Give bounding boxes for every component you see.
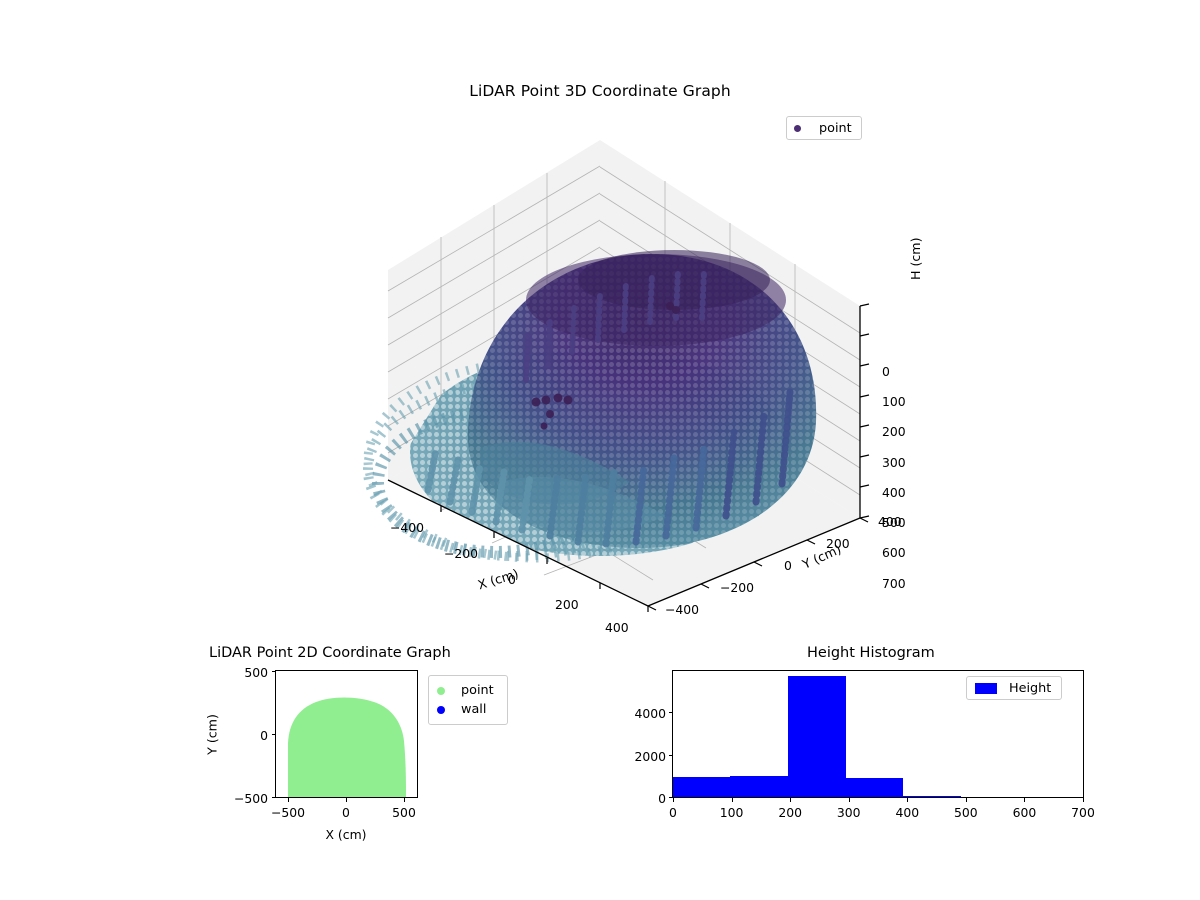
histogram-bar <box>788 676 845 797</box>
y-tick-0: −400 <box>665 602 699 617</box>
xh-tick-label: 500 <box>936 805 996 820</box>
legend-2d-label-wall: wall <box>461 702 486 717</box>
lidar-3d-plot <box>300 130 940 630</box>
xh-tick-mark <box>907 798 908 802</box>
legend-2d-row-wall[interactable]: wall <box>437 700 494 719</box>
legend-2d-label-point: point <box>461 683 494 698</box>
x-tick-3: 200 <box>555 597 579 612</box>
xh-tick-mark <box>732 798 733 802</box>
x2d-tick-right <box>404 798 405 802</box>
lidar-3d-axes[interactable]: 0 100 200 300 400 500 600 700 H (cm) −40… <box>300 130 940 630</box>
xh-tick-label: 100 <box>702 805 762 820</box>
z-axis-label: H (cm) <box>908 190 923 280</box>
z-tick-6: 600 <box>882 545 906 560</box>
x-tick-0: −400 <box>390 520 424 535</box>
yh-tick-4000 <box>669 712 672 713</box>
page-title: LiDAR Point 3D Coordinate Graph <box>0 82 1200 100</box>
x2d-tick-mid <box>346 798 347 802</box>
y2d-tick-mid <box>272 734 275 735</box>
lidar-2d-point-cloud <box>276 671 417 797</box>
height-histogram-title: Height Histogram <box>807 645 935 661</box>
y2d-tick-label-neg500: −500 <box>228 791 268 806</box>
xh-tick-label: 0 <box>643 805 703 820</box>
yh-tick-label-4000: 4000 <box>618 706 666 721</box>
histogram-bar <box>673 777 730 797</box>
y2d-tick-top <box>272 671 275 672</box>
figure-canvas: LiDAR Point 3D Coordinate Graph point <box>0 0 1200 900</box>
y2d-tick-label-500: 500 <box>228 665 268 680</box>
xh-tick-mark <box>1024 798 1025 802</box>
z-tick-4: 400 <box>882 485 906 500</box>
legend-2d-row-point[interactable]: point <box>437 681 494 700</box>
z-tick-1: 100 <box>882 394 906 409</box>
yh-tick-0 <box>669 797 672 798</box>
xh-tick-label: 400 <box>877 805 937 820</box>
xh-tick-mark <box>790 798 791 802</box>
legend-height-label: Height <box>1009 681 1051 696</box>
xh-tick-mark <box>673 798 674 802</box>
histogram-bar <box>903 796 961 797</box>
legend-wall-marker-icon <box>437 706 445 714</box>
y2d-tick-bot <box>272 797 275 798</box>
x2d-axis-label: X (cm) <box>316 827 376 842</box>
histogram-bar <box>846 778 903 797</box>
xh-tick-mark <box>1083 798 1084 802</box>
y-tick-4: 400 <box>878 514 902 529</box>
x2d-tick-label-neg500: −500 <box>258 805 318 820</box>
y2d-axis-label: Y (cm) <box>205 705 220 765</box>
xh-tick-label: 200 <box>760 805 820 820</box>
histogram-bar <box>730 776 788 797</box>
xh-tick-label: 700 <box>1053 805 1113 820</box>
z-tick-7: 700 <box>882 576 906 591</box>
legend-height-patch-icon <box>975 683 997 694</box>
y2d-tick-label-0: 0 <box>228 728 268 743</box>
legend-2d[interactable]: point wall <box>428 675 508 725</box>
x-tick-4: 400 <box>605 620 629 635</box>
xh-tick-mark <box>849 798 850 802</box>
y-tick-2: 0 <box>784 558 792 573</box>
yh-tick-label-0: 0 <box>618 791 666 806</box>
z-tick-2: 200 <box>882 424 906 439</box>
x2d-tick-label-0: 0 <box>316 805 376 820</box>
xh-tick-label: 300 <box>819 805 879 820</box>
xh-tick-label: 600 <box>994 805 1054 820</box>
x-tick-1: −200 <box>444 546 478 561</box>
x2d-tick-left <box>288 798 289 802</box>
yh-tick-label-2000: 2000 <box>618 749 666 764</box>
y-tick-1: −200 <box>720 580 754 595</box>
z-tick-0: 0 <box>882 364 890 379</box>
xh-tick-mark <box>966 798 967 802</box>
z-tick-3: 300 <box>882 455 906 470</box>
legend-histogram[interactable]: Height <box>966 676 1062 700</box>
yh-tick-2000 <box>669 755 672 756</box>
x2d-tick-label-500: 500 <box>374 805 434 820</box>
lidar-2d-plot[interactable] <box>275 670 418 798</box>
lidar-2d-title: LiDAR Point 2D Coordinate Graph <box>209 645 451 661</box>
legend-point-marker-icon <box>437 687 445 695</box>
